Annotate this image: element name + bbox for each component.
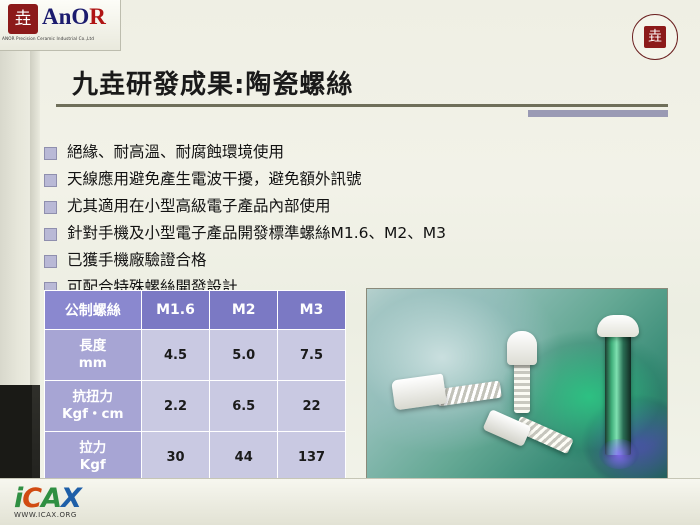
table-row-label: 長度 mm — [45, 330, 142, 381]
table-row-label-line2: mm — [46, 355, 140, 372]
table-row-label-line2: Kgf・cm — [46, 406, 140, 423]
logo-wordmark-prefix: AnO — [42, 4, 89, 29]
ceramic-screw-head — [597, 315, 639, 337]
footer-bar: iCAX WWW.ICAX.ORG — [0, 478, 700, 525]
list-item: 絕緣、耐高溫、耐腐蝕環境使用 — [44, 142, 644, 164]
ceramic-screw-shaft — [605, 335, 631, 455]
table-row-label-line1: 長度 — [46, 338, 140, 355]
table-cell: 4.5 — [141, 330, 210, 381]
table-col-header: M1.6 — [141, 291, 210, 330]
bullet-square-icon — [44, 201, 57, 214]
list-item: 尤其適用在小型高級電子產品內部使用 — [44, 196, 644, 218]
logo-subtitle: ANOR Precision Ceramic Industrial Co.,Lt… — [2, 36, 94, 41]
table-row: 長度 mm 4.5 5.0 7.5 — [45, 330, 346, 381]
icax-logo: iCAX WWW.ICAX.ORG — [14, 483, 126, 519]
list-item-text: 絕緣、耐高溫、耐腐蝕環境使用 — [67, 142, 284, 163]
table-col-header: M2 — [210, 291, 278, 330]
list-item-text: 已獲手機廠驗證合格 — [67, 250, 207, 271]
table-header-row: 公制螺絲 M1.6 M2 M3 — [45, 291, 346, 330]
table-cell: 7.5 — [278, 330, 346, 381]
logo-wordmark-suffix: R — [89, 4, 106, 29]
title-accent-bar — [528, 110, 668, 117]
list-item-text: 尤其適用在小型高級電子產品內部使用 — [67, 196, 331, 217]
table-cell: 6.5 — [210, 381, 278, 432]
icax-letter-x: X — [61, 483, 81, 514]
table-row: 抗扭力 Kgf・cm 2.2 6.5 22 — [45, 381, 346, 432]
icax-letter-c: C — [22, 483, 41, 514]
table-cell: 5.0 — [210, 330, 278, 381]
table-cell: 30 — [141, 432, 210, 483]
ceramic-screw-shaft — [514, 361, 530, 413]
table-col-header: M3 — [278, 291, 346, 330]
table-cell: 2.2 — [141, 381, 210, 432]
bullet-square-icon — [44, 174, 57, 187]
product-photo — [366, 288, 668, 486]
table-row-label: 抗扭力 Kgf・cm — [45, 381, 142, 432]
slide-canvas: 垚 AnOR ANOR Precision Ceramic Industrial… — [0, 0, 700, 525]
table-col-header: 公制螺絲 — [45, 291, 142, 330]
page-title: 九垚研發成果:陶瓷螺絲 — [72, 64, 353, 101]
spec-table: 公制螺絲 M1.6 M2 M3 長度 mm 4.5 5.0 7.5 抗扭力 Kg… — [44, 290, 346, 483]
list-item-text: 針對手機及小型電子產品開發標準螺絲M1.6、M2、M3 — [67, 223, 446, 244]
icax-wordmark: iCAX — [14, 483, 81, 514]
bullet-square-icon — [44, 255, 57, 268]
bullet-square-icon — [44, 147, 57, 160]
table-row-label: 拉力 Kgf — [45, 432, 142, 483]
icax-letter-a: A — [41, 483, 61, 514]
bullet-list: 絕緣、耐高溫、耐腐蝕環境使用 天線應用避免產生電波干擾，避免額外訊號 尤其適用在… — [44, 142, 644, 304]
table-row: 拉力 Kgf 30 44 137 — [45, 432, 346, 483]
list-item: 天線應用避免產生電波干擾，避免額外訊號 — [44, 169, 644, 191]
logo-wordmark: AnOR — [42, 4, 106, 30]
corner-seal-icon: 垚 — [632, 14, 678, 60]
table-row-label-line2: Kgf — [46, 457, 140, 474]
table-cell: 137 — [278, 432, 346, 483]
list-item: 已獲手機廠驗證合格 — [44, 250, 644, 272]
list-item: 針對手機及小型電子產品開發標準螺絲M1.6、M2、M3 — [44, 223, 644, 245]
title-underline — [56, 104, 668, 107]
list-item-text: 天線應用避免產生電波干擾，避免額外訊號 — [67, 169, 362, 190]
table-row-label-line1: 拉力 — [46, 440, 140, 457]
table-cell: 44 — [210, 432, 278, 483]
company-logo: 垚 AnOR ANOR Precision Ceramic Industrial… — [0, 0, 121, 51]
ceramic-screw-head — [507, 331, 537, 365]
logo-seal-icon: 垚 — [8, 4, 38, 34]
photo-light-glow — [599, 439, 639, 469]
icax-url: WWW.ICAX.ORG — [14, 511, 77, 519]
table-row-label-line1: 抗扭力 — [46, 389, 140, 406]
bullet-square-icon — [44, 228, 57, 241]
corner-seal-char: 垚 — [644, 26, 666, 48]
table-cell: 22 — [278, 381, 346, 432]
